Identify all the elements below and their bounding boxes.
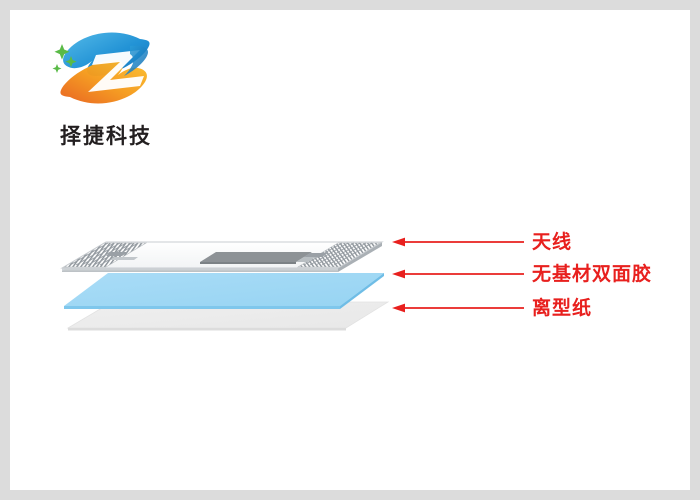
- callout-antenna: 天线: [390, 229, 572, 255]
- logo-wordmark: 择捷科技: [47, 120, 165, 150]
- arrow-left-icon: [390, 301, 524, 315]
- antenna-chip-edge: [200, 262, 296, 264]
- layer-antenna: [62, 242, 382, 272]
- arrow-left-icon: [390, 267, 524, 281]
- antenna-trace-left: [110, 257, 138, 260]
- callout-group: 天线 无基材双面胶 离型纸: [390, 215, 690, 330]
- antenna-chip-strip: [200, 252, 312, 262]
- callout-label-antenna: 天线: [532, 233, 572, 252]
- brand-logo: 择捷科技: [44, 28, 174, 148]
- callout-adhesive: 无基材双面胶: [390, 261, 652, 287]
- callout-label-release-paper: 离型纸: [532, 299, 592, 318]
- logo-mark-icon: [44, 28, 166, 108]
- arrow-left-icon: [390, 235, 524, 249]
- rfid-inlay-exploded-view: [50, 210, 400, 360]
- callout-release-paper: 离型纸: [390, 295, 592, 321]
- callout-label-adhesive: 无基材双面胶: [532, 265, 652, 284]
- page-background: 择捷科技: [10, 10, 690, 490]
- inlay-layers-illustration: [50, 210, 400, 360]
- screenshot-canvas: 择捷科技: [0, 0, 700, 500]
- layer-adhesive: [64, 273, 384, 309]
